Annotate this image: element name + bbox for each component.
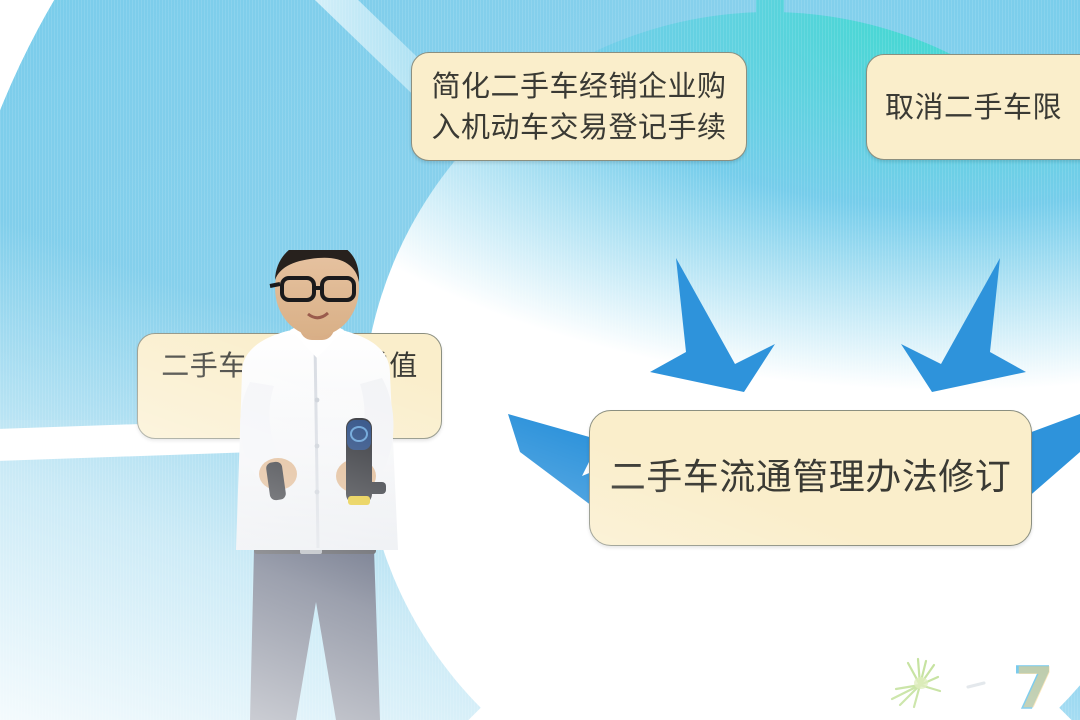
trousers <box>250 550 380 720</box>
callout-center-topic: 二手车流通管理办法修订 <box>589 410 1032 546</box>
screenshot-stage: 简化二手车经销企业购 入机动车交易登记手续 取消二手车限 二手车经销企业增值 税… <box>0 0 1080 720</box>
callout-text: 取消二手车限 <box>885 87 1062 127</box>
microphone <box>346 418 372 505</box>
callout-text: 二手车流通管理办法修订 <box>610 453 1012 503</box>
callout-simplify-registration: 简化二手车经销企业购 入机动车交易登记手续 <box>411 52 747 161</box>
callout-cancel-restriction: 取消二手车限 <box>866 54 1080 160</box>
seven-digit: 7 7 <box>1012 654 1054 720</box>
speaker-photo <box>150 250 480 720</box>
callout-text: 简化二手车经销企业购 入机动车交易登记手续 <box>431 66 726 146</box>
watermark-logo: 7 7 <box>880 645 1080 720</box>
svg-text:7: 7 <box>1015 656 1054 720</box>
